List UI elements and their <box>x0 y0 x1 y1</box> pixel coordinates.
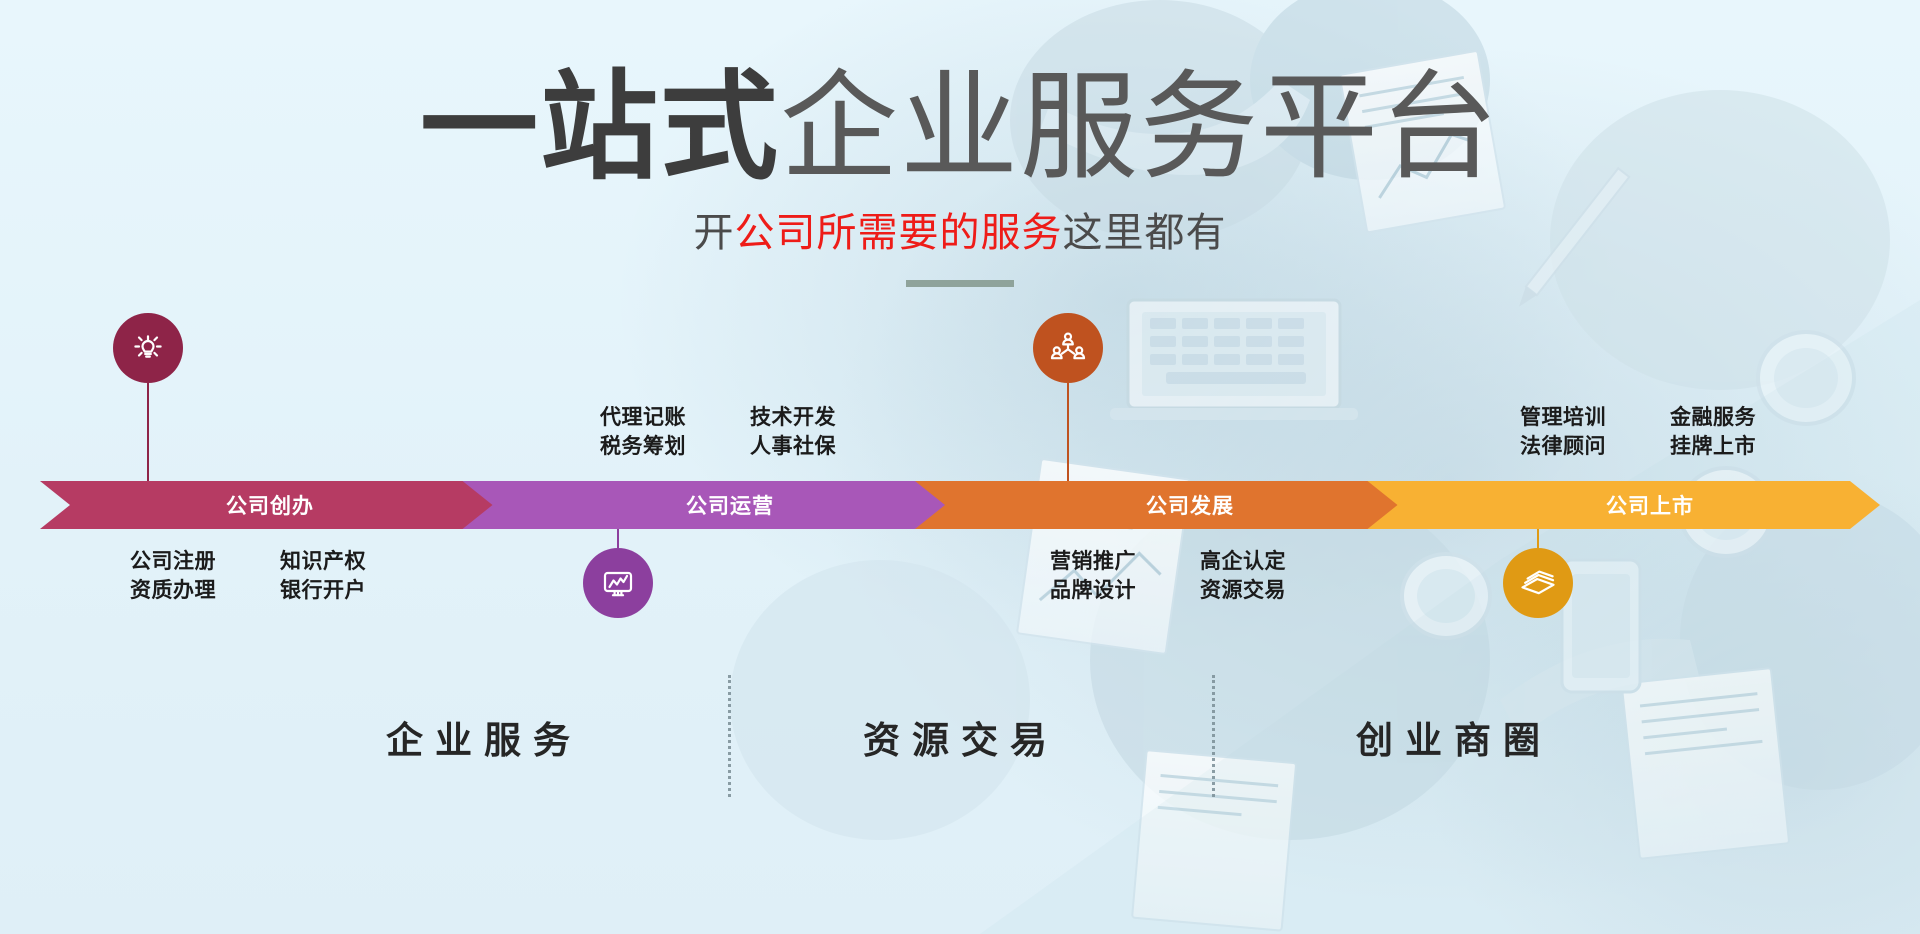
category-row: 企业服务资源交易创业商圈 <box>0 697 1920 817</box>
timeline-segment-label[interactable]: 公司创办 <box>40 481 500 529</box>
timeline-service-line: 资质办理 <box>130 577 216 606</box>
timeline-service-line: 技术开发 <box>750 404 836 433</box>
timeline-service-pair: 高企认定资源交易 <box>1200 548 1286 605</box>
category-divider <box>1212 675 1215 797</box>
timeline-service-line: 公司注册 <box>130 548 216 577</box>
timeline-service-pair: 金融服务挂牌上市 <box>1670 404 1756 461</box>
timeline-node-stem <box>147 383 149 481</box>
timeline-segment-label[interactable]: 公司发展 <box>960 481 1420 529</box>
timeline-service-pair: 营销推广品牌设计 <box>1050 548 1136 605</box>
timeline-service-line: 品牌设计 <box>1050 577 1136 606</box>
category-item-2[interactable]: 资源交易 <box>715 697 1195 777</box>
timeline-service-line: 银行开户 <box>280 577 366 606</box>
timeline-service-line: 管理培训 <box>1520 404 1606 433</box>
money-stack-icon <box>1518 563 1558 603</box>
timeline-node-monitor-chart-icon[interactable] <box>583 548 653 618</box>
people-network-icon <box>1048 328 1088 368</box>
timeline-service-line: 高企认定 <box>1200 548 1286 577</box>
timeline-service-line: 挂牌上市 <box>1670 433 1756 462</box>
timeline-service-line: 代理记账 <box>600 404 686 433</box>
timeline-service-line: 营销推广 <box>1050 548 1136 577</box>
lightbulb-icon <box>128 328 168 368</box>
timeline-node-stem <box>1067 383 1069 481</box>
monitor-chart-icon <box>598 563 638 603</box>
timeline-service-line: 知识产权 <box>280 548 366 577</box>
timeline-service-line: 资源交易 <box>1200 577 1286 606</box>
timeline-service-pair: 公司注册资质办理 <box>130 548 216 605</box>
category-divider <box>728 675 731 797</box>
timeline-service-line: 税务筹划 <box>600 433 686 462</box>
category-item-1[interactable]: 企业服务 <box>238 697 718 777</box>
timeline-service-line: 人事社保 <box>750 433 836 462</box>
category-item-3[interactable]: 创业商圈 <box>1208 697 1688 777</box>
timeline-service-line: 金融服务 <box>1670 404 1756 433</box>
timeline-node-stem <box>617 529 619 548</box>
timeline-node-people-network-icon[interactable] <box>1033 313 1103 383</box>
timeline-service-pair: 技术开发人事社保 <box>750 404 836 461</box>
timeline-service-pair: 代理记账税务筹划 <box>600 404 686 461</box>
timeline-segment-label[interactable]: 公司运营 <box>500 481 960 529</box>
timeline-node-stem <box>1537 529 1539 548</box>
timeline-node-money-stack-icon[interactable] <box>1503 548 1573 618</box>
timeline-service-line: 法律顾问 <box>1520 433 1606 462</box>
timeline-service-pair: 知识产权银行开户 <box>280 548 366 605</box>
timeline-segment-label[interactable]: 公司上市 <box>1420 481 1880 529</box>
timeline-node-lightbulb-icon[interactable] <box>113 313 183 383</box>
timeline-service-pair: 管理培训法律顾问 <box>1520 404 1606 461</box>
